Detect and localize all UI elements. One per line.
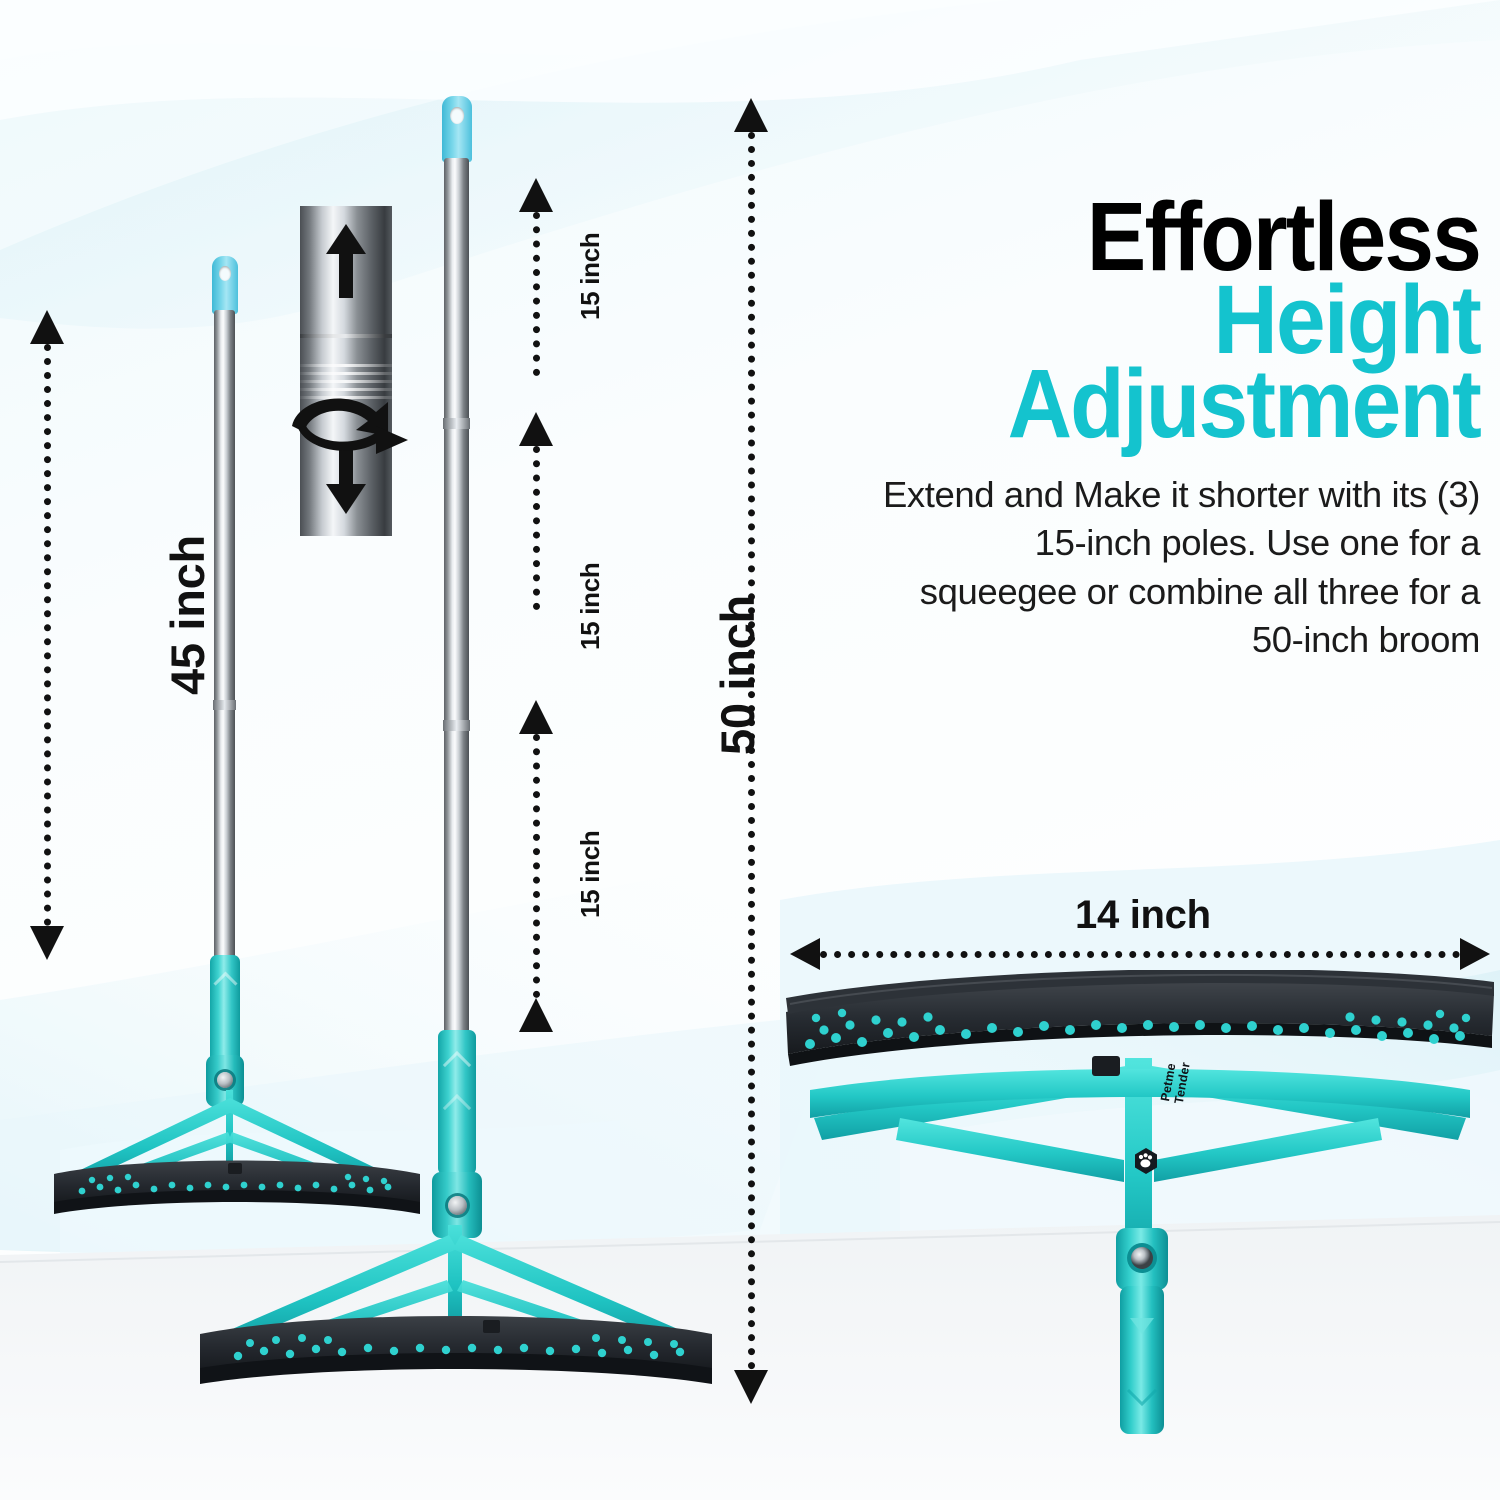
arrow-up-icon-bottom [519, 998, 553, 1032]
dimension-label-segment-3: 15 inch [575, 831, 606, 919]
steel-pole-center [444, 158, 469, 1040]
dimension-line-segment-3 [528, 700, 544, 1032]
copy-block: Effortless Height Adjustment Extend and … [880, 195, 1480, 664]
pole-joint-1 [443, 418, 470, 429]
pivot-screw-center [448, 1196, 467, 1215]
blade-clip-center [483, 1320, 500, 1333]
hang-cap-center [442, 96, 472, 162]
dotted-shaft [533, 446, 540, 610]
dotted-shaft [533, 212, 540, 376]
dotted-shaft-h [820, 951, 1460, 958]
dimension-label-50inch: 50 inch [710, 595, 765, 755]
dimension-label-14inch: 14 inch [1075, 893, 1211, 938]
body-copy: Extend and Make it shorter with its (3) … [880, 471, 1480, 664]
dimension-line-14inch [790, 946, 1490, 962]
arrow-up-icon [519, 178, 553, 212]
extended-broom [0, 0, 760, 1420]
arrow-up-icon [734, 98, 768, 132]
arrow-down-icon [734, 1370, 768, 1404]
arrow-left-icon [790, 938, 820, 970]
dimension-label-segment-2: 15 inch [575, 563, 606, 651]
dotted-shaft [533, 734, 540, 998]
pole-joint-2 [443, 720, 470, 731]
paw-print-icon [1131, 1146, 1161, 1176]
squeegee-head-closeup: Petme Tender [780, 970, 1500, 1440]
infographic-canvas: 45 inch [0, 0, 1500, 1500]
head-closeup-graphic [780, 970, 1500, 1440]
arrow-up-icon [519, 700, 553, 734]
headline-line-3: Adjustment [928, 362, 1480, 445]
hang-hole-icon [450, 107, 464, 124]
arrow-right-icon [1460, 938, 1490, 970]
dimension-line-segment-2 [528, 412, 544, 644]
squeegee-blade-center [192, 1316, 720, 1396]
arrow-up-icon [519, 412, 553, 446]
dimension-label-segment-1: 15 inch [575, 233, 606, 321]
dimension-line-segment-1 [528, 178, 544, 410]
